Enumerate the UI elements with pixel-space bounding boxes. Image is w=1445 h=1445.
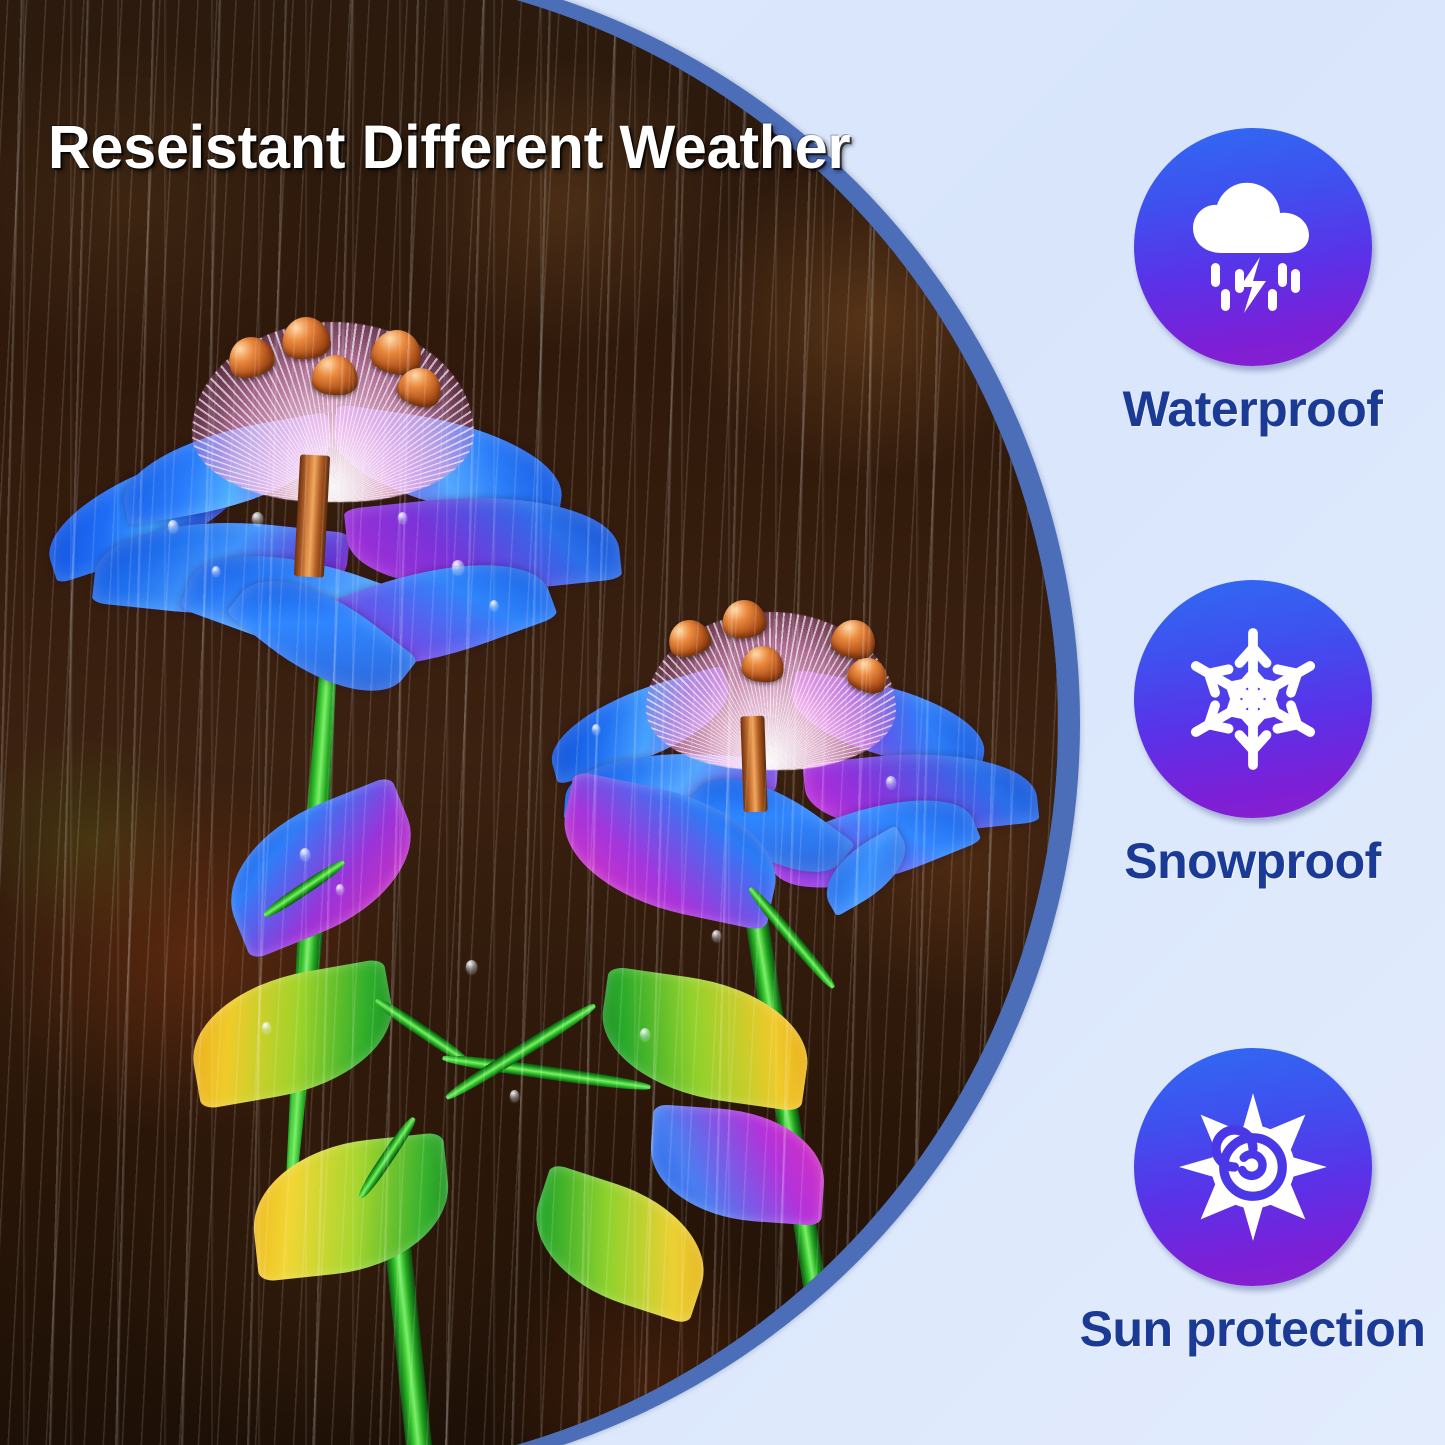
snowflake-icon bbox=[1178, 624, 1328, 774]
infographic-page: Reseistant Different Weather bbox=[0, 0, 1445, 1445]
copper-stem-tube bbox=[294, 454, 330, 577]
feature-list: Waterproof bbox=[1060, 0, 1445, 1445]
feature-icon-badge bbox=[1134, 1048, 1372, 1286]
water-droplet bbox=[712, 930, 721, 941]
water-droplet bbox=[168, 520, 178, 532]
feature-sun-protection[interactable]: Sun protection bbox=[1060, 1048, 1445, 1358]
water-droplet bbox=[592, 724, 600, 734]
copper-stem-tube bbox=[740, 716, 767, 813]
feature-label: Sun protection bbox=[1060, 1300, 1445, 1358]
lotus-leaf bbox=[246, 1132, 457, 1282]
water-droplet bbox=[300, 848, 310, 860]
feature-label: Waterproof bbox=[1060, 380, 1445, 438]
water-droplet bbox=[640, 1028, 650, 1040]
photo-inner bbox=[0, 0, 1058, 1445]
water-droplet bbox=[886, 776, 896, 788]
sun-spiral-icon bbox=[1176, 1090, 1330, 1244]
water-droplet bbox=[490, 600, 498, 610]
water-droplet bbox=[398, 512, 407, 523]
page-title: Reseistant Different Weather bbox=[48, 115, 970, 179]
feature-icon-badge bbox=[1134, 128, 1372, 366]
lotus-leaf bbox=[181, 958, 403, 1110]
lotus-leaf bbox=[646, 1104, 828, 1226]
lotus-leaf bbox=[593, 966, 817, 1112]
product-photo-panel: Reseistant Different Weather bbox=[0, 0, 1085, 1445]
water-droplet bbox=[466, 960, 477, 973]
rainy-garden-scene bbox=[0, 0, 1058, 1445]
leaf-branch bbox=[443, 1000, 598, 1104]
feature-snowproof[interactable]: Snowproof bbox=[1060, 580, 1445, 890]
water-droplet bbox=[262, 1022, 271, 1033]
feature-icon-badge bbox=[1134, 580, 1372, 818]
feature-label: Snowproof bbox=[1060, 832, 1445, 890]
feature-waterproof[interactable]: Waterproof bbox=[1060, 128, 1445, 438]
water-droplet bbox=[452, 560, 464, 574]
water-droplet bbox=[510, 1090, 519, 1101]
water-droplet bbox=[252, 512, 263, 525]
rain-cloud-lightning-icon bbox=[1178, 177, 1328, 317]
photo-frame-border bbox=[0, 0, 1080, 1445]
water-droplet bbox=[336, 884, 344, 894]
water-droplet bbox=[212, 566, 220, 576]
